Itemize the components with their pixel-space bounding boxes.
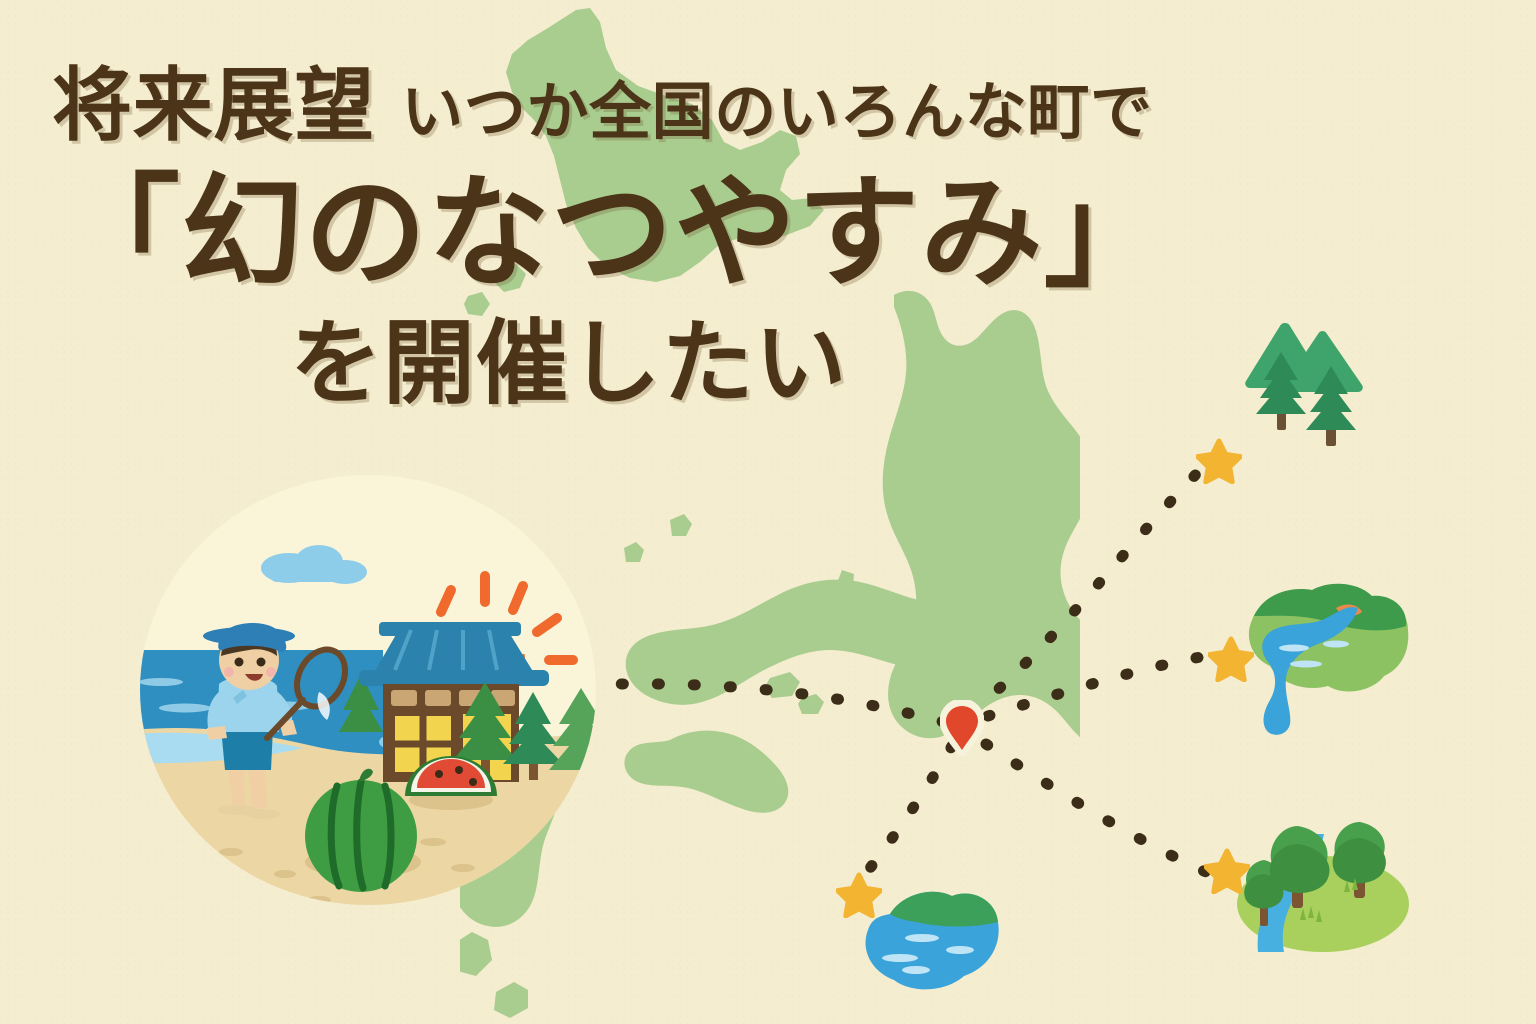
forest-stream-icon[interactable] bbox=[1228, 812, 1418, 962]
page-kicker: 将来展望 bbox=[52, 66, 375, 146]
title-row-one: 将来展望 いつか全国のいろんな町で bbox=[52, 66, 1153, 146]
star-icon bbox=[1196, 438, 1242, 484]
poster-canvas: 将来展望 いつか全国のいろんな町で 「幻のなつやすみ」 を開催したい bbox=[0, 0, 1536, 1024]
location-pin-icon[interactable] bbox=[940, 700, 984, 756]
page-lead: いつか全国のいろんな町で bbox=[401, 81, 1152, 143]
river-valley-icon[interactable] bbox=[1232, 572, 1432, 742]
mountain-trees-icon[interactable] bbox=[1222, 300, 1392, 460]
page-subtitle: を開催したい bbox=[290, 318, 848, 410]
star-icon bbox=[1204, 848, 1250, 894]
star-icon bbox=[1208, 636, 1254, 682]
summer-vacation-scene bbox=[133, 470, 603, 910]
page-title: 「幻のなつやすみ」 bbox=[58, 172, 1167, 294]
star-icon bbox=[836, 872, 882, 918]
